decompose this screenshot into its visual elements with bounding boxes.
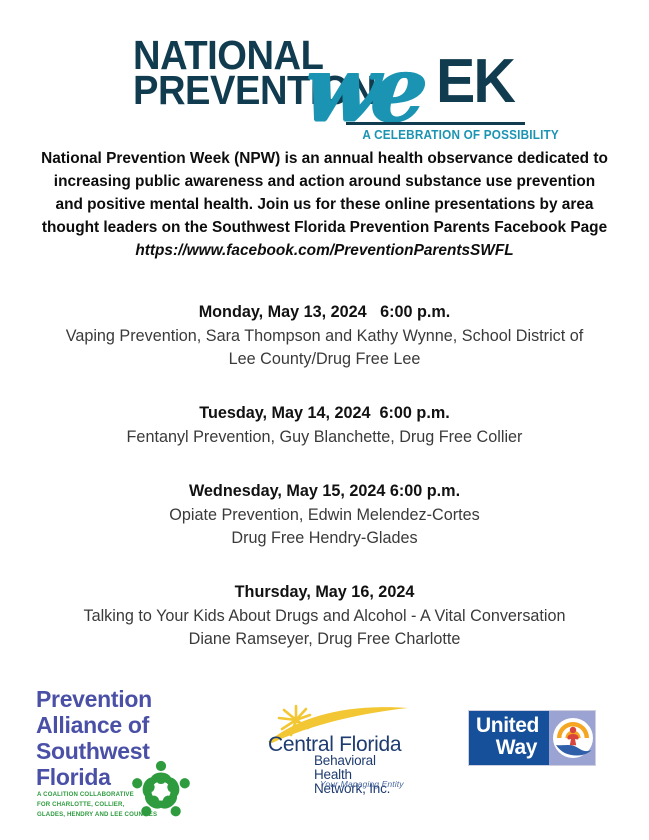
event-description-line: Opiate Prevention, Edwin Melendez-Cortes — [20, 504, 629, 527]
pasf-name-line: Prevention — [36, 686, 152, 712]
sponsor-logo-row: Prevention Alliance of Southwest Florida… — [0, 676, 649, 840]
prevention-alliance-logo: Prevention Alliance of Southwest Florida… — [32, 686, 212, 816]
cfbhn-subname-line: Behavioral Health — [314, 754, 412, 782]
united-way-word-way: Way — [469, 737, 543, 759]
npw-divider-rule — [346, 122, 525, 125]
event-heading: Wednesday, May 15, 2024 6:00 p.m. — [20, 479, 629, 504]
event-description-line: Talking to Your Kids About Drugs and Alc… — [20, 605, 629, 628]
npw-suffix-ek: EK — [436, 51, 514, 113]
npw-logo: NATIONAL PREVENTION we EK A CELEBRATION … — [133, 38, 525, 138]
intro-paragraph: National Prevention Week (NPW) is an ann… — [38, 148, 611, 263]
event-schedule-list: Monday, May 13, 2024 6:00 p.m. Vaping Pr… — [20, 300, 629, 651]
npw-tagline: A CELEBRATION OF POSSIBILITY — [362, 128, 525, 142]
event-description-line: Vaping Prevention, Sara Thompson and Kat… — [20, 325, 629, 348]
central-florida-logo: Central Florida Behavioral Health Networ… — [262, 702, 412, 788]
event-description-line: Fentanyl Prevention, Guy Blanchette, Dru… — [20, 426, 629, 449]
united-way-rainbow-person-hand-icon — [552, 715, 594, 761]
pasf-name-line: Alliance of — [36, 712, 152, 738]
event-item: Thursday, May 16, 2024 Talking to Your K… — [20, 580, 629, 651]
event-heading: Thursday, May 16, 2024 — [20, 580, 629, 605]
people-circle-icon — [128, 760, 194, 820]
united-way-word-united: United — [469, 715, 543, 737]
cfbhn-tagline: Your Managing Entity — [320, 779, 404, 789]
united-way-wordmark: United Way — [469, 715, 543, 758]
cfbhn-subname: Behavioral Health Network, Inc. — [314, 754, 412, 796]
united-way-wordmark-panel: United Way — [469, 711, 549, 765]
event-description-line: Drug Free Hendry-Glades — [20, 527, 629, 550]
united-way-logo: United Way — [468, 710, 596, 766]
intro-body-text: National Prevention Week (NPW) is an ann… — [41, 150, 608, 236]
event-item: Monday, May 13, 2024 6:00 p.m. Vaping Pr… — [20, 300, 629, 371]
event-item: Tuesday, May 14, 2024 6:00 p.m. Fentanyl… — [20, 401, 629, 449]
facebook-page-url[interactable]: https://www.facebook.com/PreventionParen… — [135, 242, 513, 259]
event-description-line: Diane Ramseyer, Drug Free Charlotte — [20, 628, 629, 651]
event-heading: Tuesday, May 14, 2024 6:00 p.m. — [20, 401, 629, 426]
united-way-symbol-panel — [549, 711, 595, 765]
event-description-line: Lee County/Drug Free Lee — [20, 348, 629, 371]
event-heading: Monday, May 13, 2024 6:00 p.m. — [20, 300, 629, 325]
event-item: Wednesday, May 15, 2024 6:00 p.m. Opiate… — [20, 479, 629, 550]
